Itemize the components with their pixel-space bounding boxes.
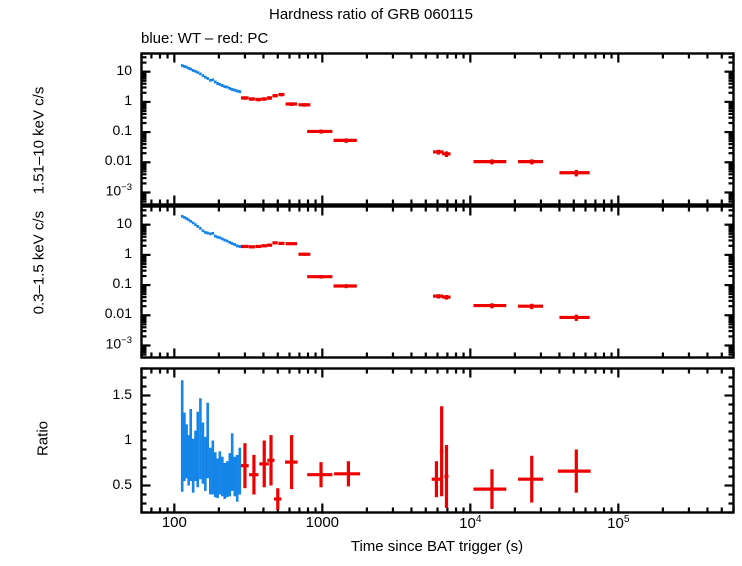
y-tick-label: 0.5	[70, 476, 132, 492]
series-wt-panel-2	[181, 380, 240, 502]
y-tick-label: 10	[70, 62, 132, 78]
y-tick-label: 1	[70, 431, 132, 447]
x-tick-label: 104	[435, 514, 505, 532]
x-tick-label: 1000	[287, 514, 357, 531]
series-wt-panel-0	[181, 64, 240, 93]
y-tick-label: 1.5	[70, 386, 132, 402]
y-tick-label: 0.01	[70, 152, 132, 168]
panel-frame-0	[142, 54, 734, 205]
x-tick-label: 105	[583, 514, 653, 532]
y-tick-label: 1	[70, 92, 132, 108]
y-tick-label: 10	[70, 215, 132, 231]
y-tick-label: 10−3	[70, 182, 132, 199]
panel-frame-1	[142, 207, 734, 358]
y-tick-label: 0.1	[70, 122, 132, 138]
y-tick-label: 10−3	[70, 335, 132, 352]
x-tick-label: 100	[139, 514, 209, 531]
figure-container: Hardness ratio of GRB 060115 blue: WT – …	[0, 0, 742, 566]
y-tick-label: 1	[70, 245, 132, 261]
y-tick-label: 0.1	[70, 275, 132, 291]
series-pc-panel-1	[241, 242, 590, 321]
series-pc-panel-2	[241, 406, 591, 510]
y-tick-label: 0.01	[70, 305, 132, 321]
series-pc-panel-0	[241, 93, 590, 176]
series-wt-panel-1	[181, 215, 240, 248]
